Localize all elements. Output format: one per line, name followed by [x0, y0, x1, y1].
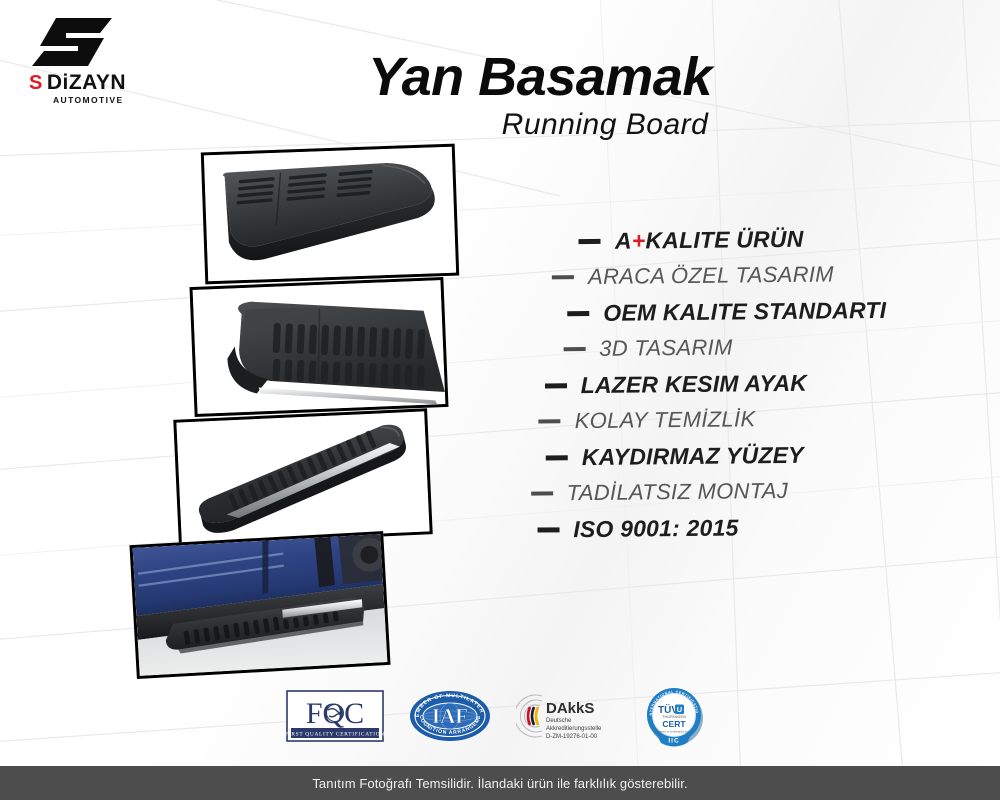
feature-dash-icon [546, 455, 568, 460]
dakks-line3: D-ZM-19276-01-00 [546, 734, 598, 740]
running-board-tread-closeup-image [193, 280, 446, 414]
feature-item-6: KAYDIRMAZ YÜZEY [456, 436, 916, 477]
feature-item-5: KOLAY TEMİZLİK [455, 400, 915, 441]
feature-dash-icon [539, 419, 561, 423]
feature-text-before-0: A [615, 227, 632, 253]
feature-item-8: ISO 9001: 2015 [456, 508, 916, 549]
svg-text:FQC: FQC [306, 697, 364, 730]
feature-label-1: ARACA ÖZEL TASARIM [588, 263, 834, 288]
fqc-banner-text: FIRST QUALITY CERTIFICATION [286, 732, 384, 738]
brand-logo: S DiZAYN AUTOMOTIVE [26, 14, 196, 105]
tuv-ribbon: IIC [668, 738, 679, 745]
page-title: Yan Basamak [280, 50, 800, 104]
feature-item-3: 3D TASARIM [454, 328, 914, 369]
tuv-label: CERT [662, 719, 686, 729]
feature-dash-icon [563, 347, 585, 351]
feature-list: A+KALITE ÜRÜN ARACA ÖZEL TASARIM OEM KAL… [453, 220, 916, 549]
product-photo-4[interactable] [129, 531, 390, 679]
svg-text:U: U [677, 705, 682, 714]
black-running-board-angle-image [204, 147, 456, 282]
dakks-line1: Deutsche [546, 718, 572, 724]
svg-text:IAF: IAF [432, 704, 468, 728]
feature-label-8: ISO 9001: 2015 [573, 516, 738, 541]
feature-label-5: KOLAY TEMİZLİK [575, 408, 756, 432]
brand-wordmark: S DiZAYN [26, 72, 196, 93]
dakks-certification-badge: DAkkS Deutsche Akkreditierungsstelle D-Z… [516, 691, 620, 741]
s-monogram-icon [26, 14, 118, 70]
feature-dash-icon [579, 238, 601, 243]
tuv-sub-label: system of certification body [657, 730, 691, 734]
dakks-line2: Akkreditierungsstelle [546, 726, 602, 732]
feature-item-1: ARACA ÖZEL TASARIM [454, 256, 914, 297]
product-ad-page: S DiZAYN AUTOMOTIVE Yan Basamak Running … [0, 0, 1000, 800]
feature-label-3: 3D TASARIM [599, 336, 733, 359]
feature-label-7: TADİLATSIZ MONTAJ [567, 480, 789, 504]
running-board-installed-on-vehicle-image [133, 534, 388, 676]
feature-item-4: LAZER KESIM AYAK [455, 364, 915, 405]
brand-initial: S [29, 73, 42, 93]
feature-text-after-0: KALITE ÜRÜN [645, 225, 803, 253]
product-photo-1[interactable] [201, 144, 459, 285]
feature-label-2: OEM KALITE STANDARTI [603, 298, 886, 324]
page-subtitle: Running Board [280, 110, 800, 140]
feature-label-6: KAYDIRMAZ YÜZEY [582, 443, 804, 468]
iaf-certification-badge: IAF MEMBER OF MULTILATERAL RECOGNITION A… [408, 689, 492, 743]
feature-dash-icon [545, 383, 567, 388]
running-board-full-rail-image [176, 411, 429, 542]
product-photo-3[interactable] [173, 408, 432, 545]
brand-name: DiZAYN [47, 72, 126, 93]
feature-label-0: A+KALITE ÜRÜN [615, 227, 804, 252]
feature-item-7: TADİLATSIZ MONTAJ [456, 472, 916, 513]
footer-disclaimer: Tanıtım Fotoğrafı Temsilidir. İlandaki ü… [312, 776, 687, 791]
feature-item-2: OEM KALITE STANDARTI [454, 292, 914, 333]
footer-bar: Tanıtım Fotoğrafı Temsilidir. İlandaki ü… [0, 766, 1000, 800]
tuv-certification-badge: INTERNATIONAL CERTIFICATION TÜV U THÜRIN… [644, 685, 706, 747]
feature-label-4: LAZER KESIM AYAK [580, 371, 807, 396]
feature-dash-icon [537, 527, 559, 532]
certification-badges: FQC FIRST QUALITY CERTIFICATION IAF MEMB… [286, 684, 706, 748]
feature-dash-icon [552, 275, 574, 279]
feature-accent-0: + [632, 227, 646, 253]
heading-block: Yan Basamak Running Board [280, 50, 800, 140]
dakks-acronym: DAkkS [546, 700, 594, 717]
feature-dash-icon [567, 310, 589, 315]
feature-item-0: A+KALITE ÜRÜN [453, 220, 913, 261]
product-photo-2[interactable] [189, 277, 448, 417]
fqc-certification-badge: FQC FIRST QUALITY CERTIFICATION [286, 690, 384, 742]
feature-dash-icon [531, 491, 553, 495]
brand-tagline: AUTOMOTIVE [26, 96, 196, 105]
